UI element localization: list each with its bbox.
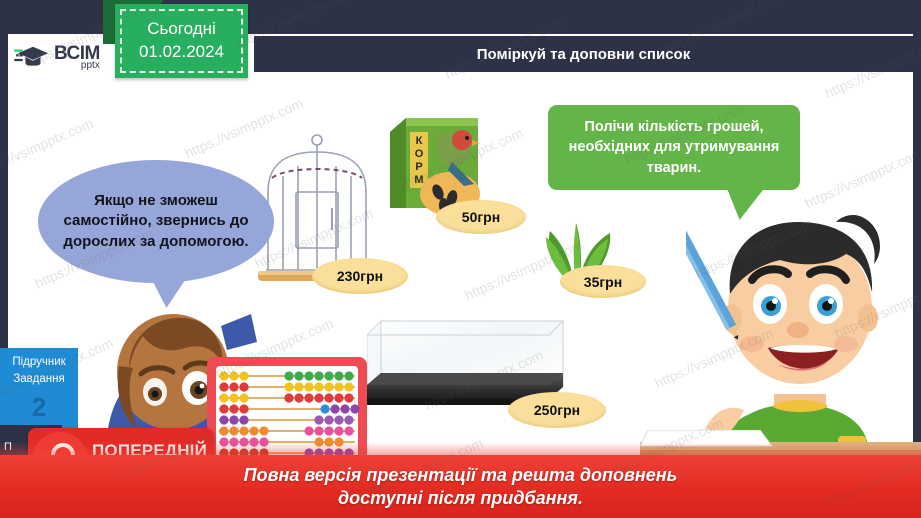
side-tab-label: П (4, 441, 12, 453)
textbook-label: Підручник (0, 354, 78, 371)
right-speech-bubble-text: Полічи кількість грошей, необхідних для … (560, 117, 788, 178)
task-number: 2 (0, 389, 78, 427)
brand-logo[interactable]: ВСІМ pptx (8, 34, 112, 80)
price-aquarium: 250грн (508, 392, 606, 428)
banner-line1: Повна версія презентації та решта доповн… (244, 464, 678, 487)
right-speech-bubble: Полічи кількість грошей, необхідних для … (548, 105, 800, 190)
svg-text:О: О (415, 148, 424, 160)
date-tag-label: Сьогодні (147, 18, 216, 41)
task-label: Завдання (0, 371, 78, 388)
boy-character-illustration (686, 198, 914, 466)
left-speech-bubble: Якщо не зможеш самостійно, звернись до д… (38, 160, 274, 283)
page-title: Поміркуй та доповни список (477, 46, 690, 63)
price-plant: 35грн (560, 265, 646, 298)
slide-root: ВСІМ pptx Сьогодні 01.02.2024 Поміркуй т… (0, 0, 921, 518)
date-tag: Сьогодні 01.02.2024 (115, 4, 248, 78)
svg-text:К: К (416, 135, 423, 147)
svg-text:М: М (414, 174, 423, 186)
date-tag-value: 01.02.2024 (139, 41, 224, 64)
svg-text:Р: Р (415, 161, 422, 173)
graduation-cap-icon (14, 42, 52, 72)
purchase-banner: Повна версія презентації та решта доповн… (0, 455, 921, 518)
slide-title-bar: Поміркуй та доповни список (254, 36, 913, 72)
price-cage: 230грн (312, 258, 408, 294)
left-speech-bubble-text: Якщо не зможеш самостійно, звернись до д… (54, 191, 258, 252)
banner-line2: доступні після придбання. (338, 487, 583, 510)
price-feed-box: 50грн (436, 200, 526, 234)
